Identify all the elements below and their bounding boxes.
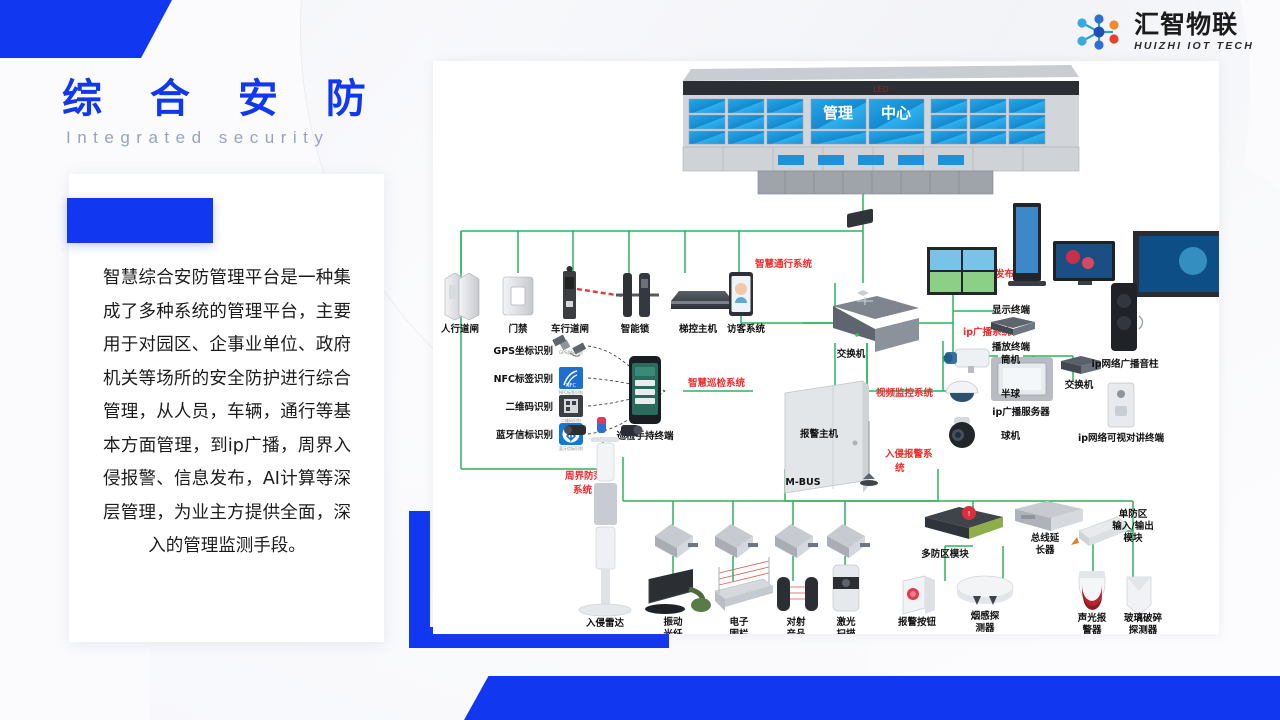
- label-ip-intercom: ip网络可视对讲终端: [1078, 432, 1165, 444]
- svg-text:NFC标签识别: NFC标签识别: [559, 389, 583, 395]
- page-title: 综 合 安 防: [62, 66, 383, 124]
- mbus-module-row: [655, 524, 870, 558]
- device-pedestrian-gate-icon: [445, 273, 479, 320]
- svg-text:二维码识别: 二维码识别: [561, 417, 581, 423]
- label-access-4: 梯控主机: [679, 323, 718, 335]
- label-patrol-2: 二维码识别: [505, 401, 553, 413]
- laser-scanner-icon: [833, 565, 859, 611]
- glass-break-detector-icon: [1127, 577, 1151, 615]
- device-vehicle-barrier-icon: [563, 266, 629, 319]
- label-system-passage: 智慧通行系统: [755, 258, 813, 270]
- label-access-1: 门禁: [508, 323, 528, 335]
- label-module-2a: 单防区: [1119, 508, 1148, 520]
- label-perimeter-2b: 围栏: [729, 628, 749, 634]
- card-accent-tab: [67, 198, 213, 243]
- label-mbus: M-BUS: [785, 477, 820, 488]
- label-patrol-0: GPS坐标识别: [493, 345, 553, 357]
- display-videowall-icon: [927, 247, 997, 295]
- label-access-3: 智能锁: [621, 323, 650, 335]
- label-perimeter-2a: 电子: [729, 616, 749, 628]
- ip-video-intercom-icon: [1108, 383, 1134, 427]
- label-camera-1: 半球: [1001, 388, 1021, 400]
- camera-bullet-icon: [944, 349, 990, 373]
- device-visitor-system-icon: [729, 272, 753, 316]
- beam-detector-icon: [777, 577, 818, 611]
- label-system-patrol: 智慧巡检系统: [688, 377, 746, 389]
- label-detector-1a: 烟感探: [971, 610, 1000, 622]
- label-display-terminal: 显示终端: [992, 304, 1031, 316]
- alarm-button-icon: [903, 576, 935, 614]
- security-architecture-diagram: LED 管理 中心: [433, 61, 1219, 634]
- display-kiosk-icon: [1008, 203, 1046, 286]
- device-access-panel-icon: [503, 277, 533, 315]
- electric-fence-icon: [715, 557, 773, 611]
- label-access-5: 访客系统: [727, 323, 766, 335]
- label-perimeter-3b: 产品: [786, 628, 805, 634]
- label-patrol-1: NFC标签识别: [494, 373, 553, 385]
- label-system-intrusion-2: 统: [895, 462, 905, 474]
- label-ip-speaker: ip网络广播音柱: [1091, 358, 1159, 370]
- network-switch-center-icon: [833, 208, 919, 352]
- svg-text:蓝牙信标识别: 蓝牙信标识别: [559, 445, 583, 451]
- label-module-1a: 总线延: [1031, 532, 1060, 544]
- label-system-cctv: 视频监控系统: [876, 387, 934, 399]
- label-module-2c: 模块: [1123, 532, 1143, 544]
- patrol-handheld-terminal-icon: [629, 356, 661, 424]
- control-room-label-2: 中心: [881, 104, 911, 122]
- display-largescreen-icon: [1133, 231, 1219, 297]
- label-module-2b: 输入/输出: [1112, 520, 1153, 532]
- svg-text:LED: LED: [873, 85, 889, 94]
- vibration-fiber-icon: [645, 569, 711, 614]
- label-perimeter-4b: 扫描: [836, 628, 856, 634]
- label-switch-right: 交换机: [1065, 379, 1094, 391]
- label-perimeter-3a: 对射: [786, 616, 806, 628]
- label-detector-2b: 警器: [1082, 624, 1102, 634]
- logo-title-cn: 汇智物联: [1134, 12, 1254, 37]
- label-camera-2: 球机: [1001, 430, 1021, 442]
- control-room-label-1: 管理: [823, 104, 853, 122]
- label-perimeter-1b: 光纤: [662, 628, 683, 634]
- label-module-1b: 长器: [1035, 544, 1055, 556]
- camera-ptz-icon: [949, 417, 975, 448]
- label-perimeter-4a: 激光: [836, 616, 856, 628]
- label-detector-0: 报警按钮: [898, 616, 937, 628]
- svg-text:NFC: NFC: [566, 383, 577, 389]
- multizone-module-icon: !: [925, 506, 1003, 539]
- sound-light-alarm-icon: [1079, 571, 1105, 610]
- brand-logo: 汇智物联 HUIZHI IOT TECH: [1075, 12, 1254, 52]
- camera-dome-icon: [946, 381, 978, 402]
- svg-text:GPS坐标识别: GPS坐标识别: [559, 349, 583, 355]
- label-detector-2a: 声光报: [1077, 612, 1107, 624]
- camera-group: 筒机 半球 球机: [944, 349, 1021, 448]
- label-alarm-host: 报警主机: [800, 428, 839, 440]
- page-subtitle: Integrated security: [66, 128, 329, 148]
- qr-code-icon: [559, 395, 583, 417]
- label-switch-center: 交换机: [837, 348, 866, 360]
- molecule-network-icon: [1075, 12, 1125, 52]
- logo-title-en: HUIZHI IOT TECH: [1134, 41, 1254, 52]
- smart-patrol-group: GPS坐标识别 NFC标签识别 二维码识别 蓝牙信标识别 NFC: [493, 335, 745, 451]
- smoke-detector-icon: [957, 576, 1013, 605]
- label-detector-1b: 测器: [975, 622, 995, 634]
- label-detector-3a: 玻璃破碎: [1124, 612, 1163, 624]
- bus-extender-icon: [1015, 501, 1083, 531]
- svg-text:!: !: [968, 510, 971, 518]
- label-perimeter-1a: 振动: [663, 616, 683, 628]
- label-perimeter-0: 入侵雷达: [585, 617, 625, 629]
- label-system-perimeter-2: 系统: [573, 484, 593, 496]
- label-ip-server: ip广播服务器: [992, 406, 1050, 418]
- label-camera-0: 筒机: [1000, 354, 1021, 366]
- access-control-device-group: 人行道闸 门禁 车行道闸 智能锁 梯控主机 访客系统: [441, 266, 766, 335]
- device-smart-lock-icon: [616, 273, 659, 317]
- label-access-2: 车行道闸: [551, 323, 589, 335]
- control-room-video-wall: LED 管理 中心: [683, 65, 1079, 194]
- label-module-0: 多防区模块: [921, 548, 969, 560]
- bottom-blue-band: [464, 676, 1280, 720]
- label-patrol-3: 蓝牙信标识别: [496, 429, 553, 441]
- label-system-intrusion: 入侵报警系: [884, 448, 933, 460]
- label-play-terminal: 播放终端: [992, 341, 1031, 353]
- nfc-tag-icon: NFC: [559, 367, 583, 389]
- label-access-0: 人行道闸: [441, 323, 479, 335]
- label-detector-3b: 探测器: [1129, 624, 1158, 634]
- description-text: 智慧综合安防管理平台是一种集成了多种系统的管理平台，主要用于对园区、企事业单位、…: [103, 262, 351, 564]
- top-left-blue-shape: [0, 0, 172, 58]
- device-elevator-controller-icon: [671, 291, 733, 309]
- alarm-module-group: ! 多防区模块 总线延 长器 单防区 输入/输出 模块 报警按钮: [898, 501, 1163, 634]
- display-tv-icon: [1053, 241, 1115, 285]
